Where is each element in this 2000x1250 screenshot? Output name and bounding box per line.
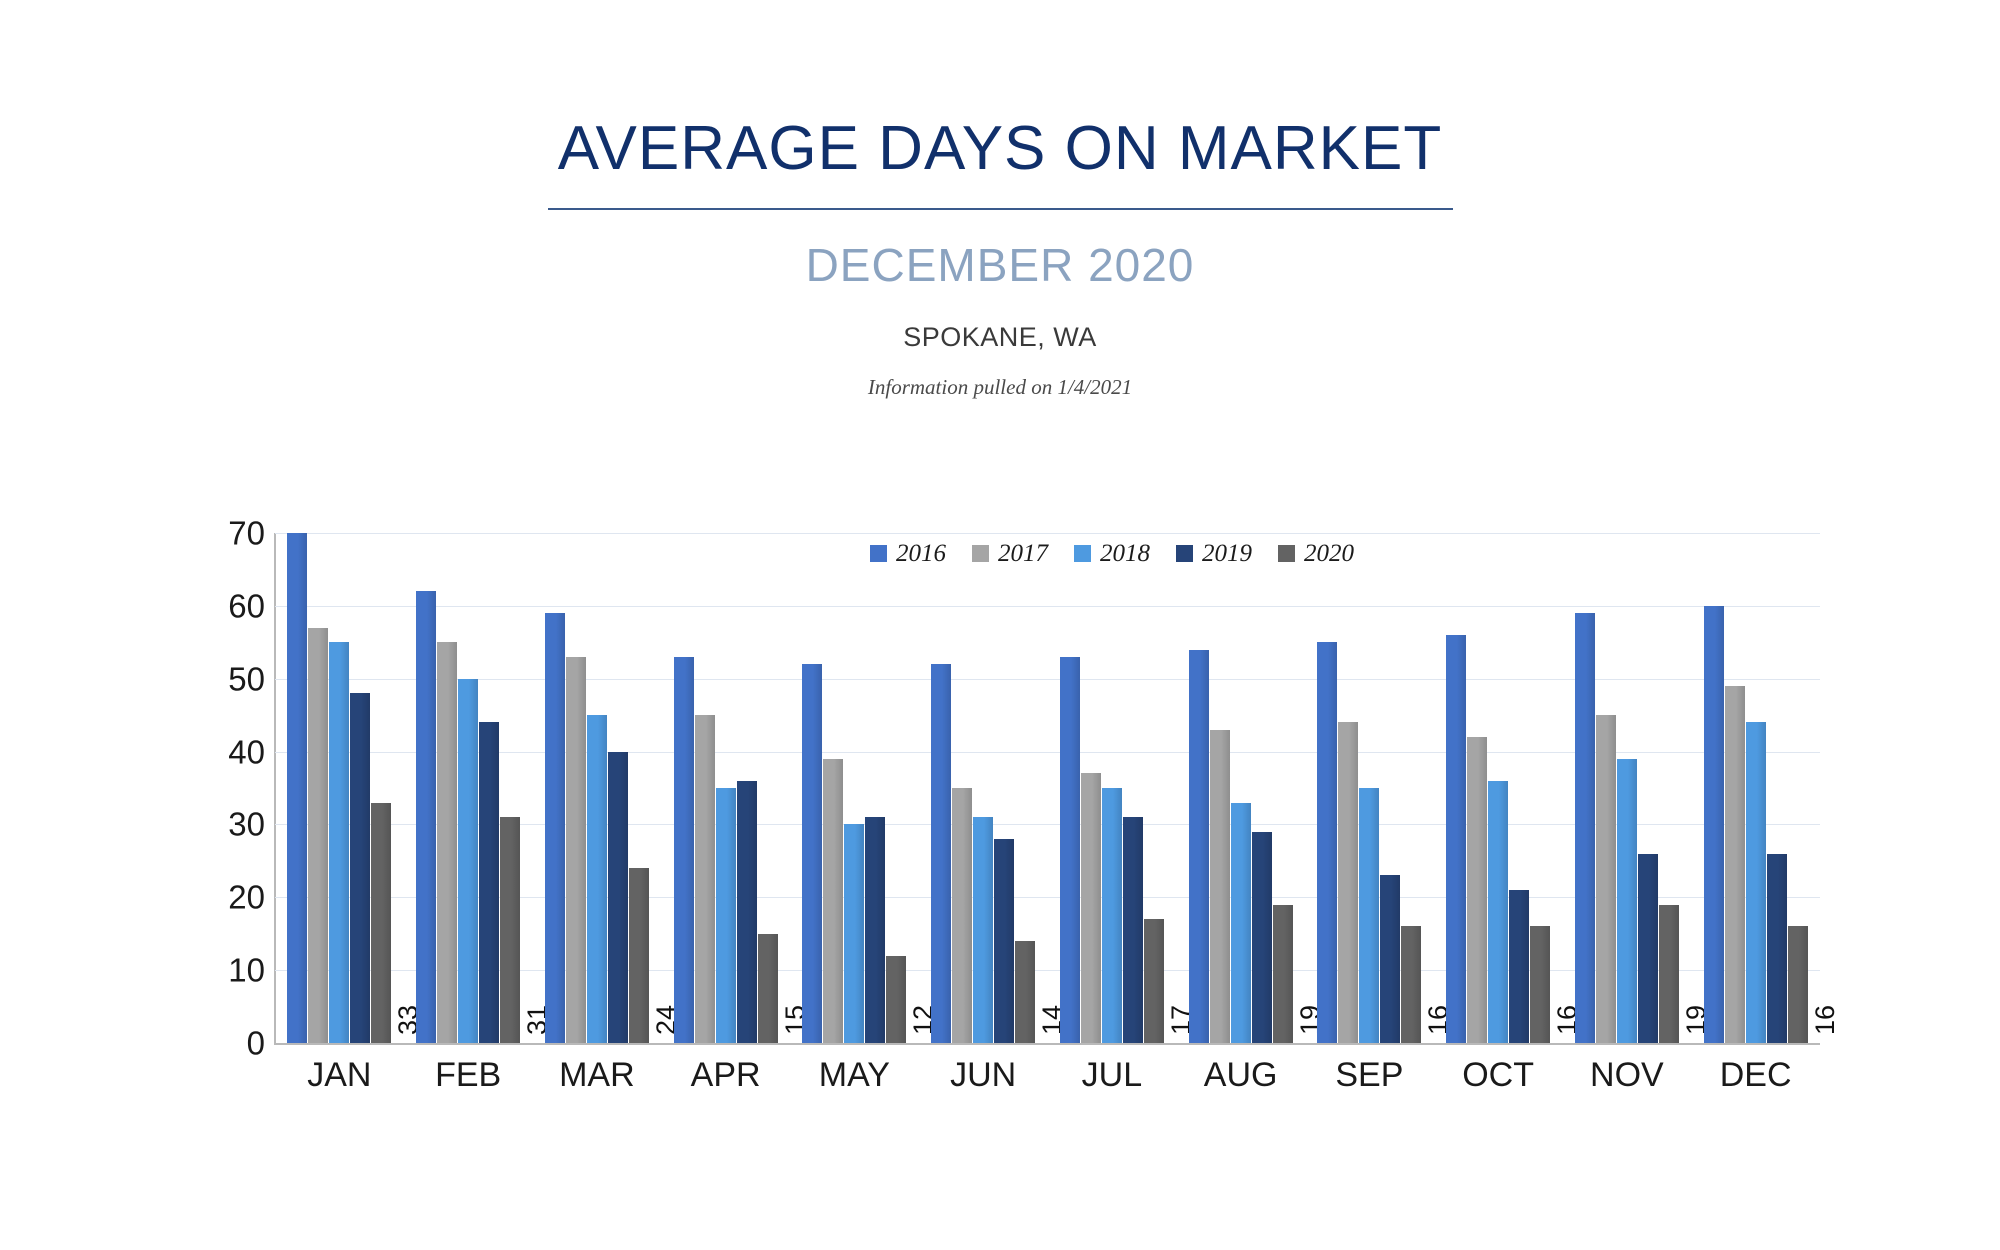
x-axis-tick: AUG [1176, 1058, 1305, 1092]
bar-2019-jun[interactable] [994, 839, 1014, 1043]
bar-2019-mar[interactable] [608, 752, 628, 1043]
bar-2018-feb[interactable] [458, 679, 478, 1043]
bar-2019-jan[interactable] [350, 693, 370, 1043]
legend-label: 2016 [896, 541, 946, 566]
x-axis-tick: NOV [1563, 1058, 1692, 1092]
bar-2020-jul[interactable]: 17 [1144, 919, 1164, 1043]
bar-2019-dec[interactable] [1767, 854, 1787, 1043]
legend-item-2018[interactable]: 2018 [1074, 541, 1150, 566]
x-axis-tick: JUN [919, 1058, 1048, 1092]
bar-2018-jul[interactable] [1102, 788, 1122, 1043]
bar-value-label: 16 [1812, 1005, 1839, 1035]
bar-2020-sep[interactable]: 16 [1401, 926, 1421, 1043]
chart-container: 010203040506070 20162017201820192020 333… [0, 510, 2000, 1130]
bar-2020-feb[interactable]: 31 [500, 817, 520, 1043]
bar-2019-sep[interactable] [1380, 875, 1400, 1043]
bar-2016-sep[interactable] [1317, 642, 1337, 1043]
bar-2020-oct[interactable]: 16 [1530, 926, 1550, 1043]
title-underline [548, 208, 1453, 210]
x-axis-line [274, 1043, 1820, 1045]
bar-2019-feb[interactable] [479, 722, 499, 1043]
legend-swatch-icon [1278, 545, 1295, 562]
bar-2016-jun[interactable] [931, 664, 951, 1043]
bar-2018-jan[interactable] [329, 642, 349, 1043]
bar-group-aug: 19 [1176, 533, 1305, 1043]
bar-2020-nov[interactable]: 19 [1659, 905, 1679, 1043]
bar-2018-mar[interactable] [587, 715, 607, 1043]
report-period-subtitle: DECEMBER 2020 [0, 242, 2000, 288]
x-axis-tick: APR [661, 1058, 790, 1092]
x-axis-tick: DEC [1691, 1058, 1820, 1092]
bar-2018-aug[interactable] [1231, 803, 1251, 1043]
x-axis-tick: JUL [1048, 1058, 1177, 1092]
bar-2018-apr[interactable] [716, 788, 736, 1043]
bar-2020-aug[interactable]: 19 [1273, 905, 1293, 1043]
legend-swatch-icon [1074, 545, 1091, 562]
bar-2018-may[interactable] [844, 824, 864, 1043]
y-axis-tick: 40 [228, 735, 265, 768]
bar-group-apr: 15 [661, 533, 790, 1043]
bar-group-nov: 19 [1563, 533, 1692, 1043]
bar-2018-oct[interactable] [1488, 781, 1508, 1043]
legend-swatch-icon [870, 545, 887, 562]
y-axis-tick: 50 [228, 662, 265, 695]
bar-group-jun: 14 [919, 533, 1048, 1043]
x-axis-tick: JAN [275, 1058, 404, 1092]
bar-group-may: 12 [790, 533, 919, 1043]
bar-2016-aug[interactable] [1189, 650, 1209, 1043]
x-axis-tick: MAR [533, 1058, 662, 1092]
bar-2017-feb[interactable] [437, 642, 457, 1043]
bar-group-jan: 33 [275, 533, 404, 1043]
chart-header: AVERAGE DAYS ON MARKET DECEMBER 2020 SPO… [0, 0, 2000, 398]
bar-2016-apr[interactable] [674, 657, 694, 1043]
x-axis-tick: SEP [1305, 1058, 1434, 1092]
chart-legend: 20162017201820192020 [870, 541, 1354, 566]
bar-2016-may[interactable] [802, 664, 822, 1043]
bar-2020-may[interactable]: 12 [886, 956, 906, 1043]
x-axis-tick: MAY [790, 1058, 919, 1092]
legend-item-2017[interactable]: 2017 [972, 541, 1048, 566]
data-pulled-note: Information pulled on 1/4/2021 [0, 377, 2000, 398]
bar-2019-nov[interactable] [1638, 854, 1658, 1043]
legend-label: 2020 [1304, 541, 1354, 566]
bar-2017-aug[interactable] [1210, 730, 1230, 1043]
plot-area: 20162017201820192020 3331241512141719161… [275, 533, 1820, 1043]
bar-2018-nov[interactable] [1617, 759, 1637, 1043]
bar-2017-jan[interactable] [308, 628, 328, 1043]
x-axis-tick-labels: JANFEBMARAPRMAYJUNJULAUGSEPOCTNOVDEC [275, 1058, 1820, 1092]
bar-2017-mar[interactable] [566, 657, 586, 1043]
bar-group-jul: 17 [1048, 533, 1177, 1043]
bar-2017-sep[interactable] [1338, 722, 1358, 1043]
location-label: SPOKANE, WA [0, 324, 2000, 351]
bar-2016-jul[interactable] [1060, 657, 1080, 1043]
x-axis-tick: OCT [1434, 1058, 1563, 1092]
bar-2016-jan[interactable] [287, 533, 307, 1043]
bar-group-oct: 16 [1434, 533, 1563, 1043]
legend-label: 2019 [1202, 541, 1252, 566]
y-axis-tick: 60 [228, 589, 265, 622]
bar-2016-nov[interactable] [1575, 613, 1595, 1043]
y-axis-tick: 70 [228, 517, 265, 550]
bar-2017-dec[interactable] [1725, 686, 1745, 1043]
bar-groups: 333124151214171916161916 [275, 533, 1820, 1043]
bar-2017-may[interactable] [823, 759, 843, 1043]
bar-2018-sep[interactable] [1359, 788, 1379, 1043]
bar-2016-oct[interactable] [1446, 635, 1466, 1043]
bar-2019-may[interactable] [865, 817, 885, 1043]
bar-2020-dec[interactable]: 16 [1788, 926, 1808, 1043]
bar-2019-jul[interactable] [1123, 817, 1143, 1043]
bar-2020-jun[interactable]: 14 [1015, 941, 1035, 1043]
bar-2018-dec[interactable] [1746, 722, 1766, 1043]
y-axis-tick: 20 [228, 881, 265, 914]
bar-2017-apr[interactable] [695, 715, 715, 1043]
legend-item-2020[interactable]: 2020 [1278, 541, 1354, 566]
chart-page: AVERAGE DAYS ON MARKET DECEMBER 2020 SPO… [0, 0, 2000, 1250]
legend-swatch-icon [1176, 545, 1193, 562]
legend-label: 2017 [998, 541, 1048, 566]
bar-group-dec: 16 [1691, 533, 1820, 1043]
x-axis-tick: FEB [404, 1058, 533, 1092]
bar-2017-jun[interactable] [952, 788, 972, 1043]
bar-group-mar: 24 [533, 533, 662, 1043]
y-axis-tick: 10 [228, 954, 265, 987]
y-axis-tick: 0 [247, 1027, 265, 1060]
bar-2019-aug[interactable] [1252, 832, 1272, 1043]
legend-item-2016[interactable]: 2016 [870, 541, 946, 566]
bar-2019-oct[interactable] [1509, 890, 1529, 1043]
bar-2017-oct[interactable] [1467, 737, 1487, 1043]
bar-2016-feb[interactable] [416, 591, 436, 1043]
bar-group-feb: 31 [404, 533, 533, 1043]
legend-label: 2018 [1100, 541, 1150, 566]
bar-2020-mar[interactable]: 24 [629, 868, 649, 1043]
bar-2019-apr[interactable] [737, 781, 757, 1043]
bar-2016-mar[interactable] [545, 613, 565, 1043]
bar-2017-nov[interactable] [1596, 715, 1616, 1043]
legend-item-2019[interactable]: 2019 [1176, 541, 1252, 566]
y-axis-tick-labels: 010203040506070 [195, 533, 265, 1043]
bar-2017-jul[interactable] [1081, 773, 1101, 1043]
bar-group-sep: 16 [1305, 533, 1434, 1043]
bar-2018-jun[interactable] [973, 817, 993, 1043]
legend-swatch-icon [972, 545, 989, 562]
bar-2020-jan[interactable]: 33 [371, 803, 391, 1043]
page-title: AVERAGE DAYS ON MARKET [0, 0, 2000, 180]
y-axis-tick: 30 [228, 808, 265, 841]
bar-2016-dec[interactable] [1704, 606, 1724, 1043]
bar-2020-apr[interactable]: 15 [758, 934, 778, 1043]
